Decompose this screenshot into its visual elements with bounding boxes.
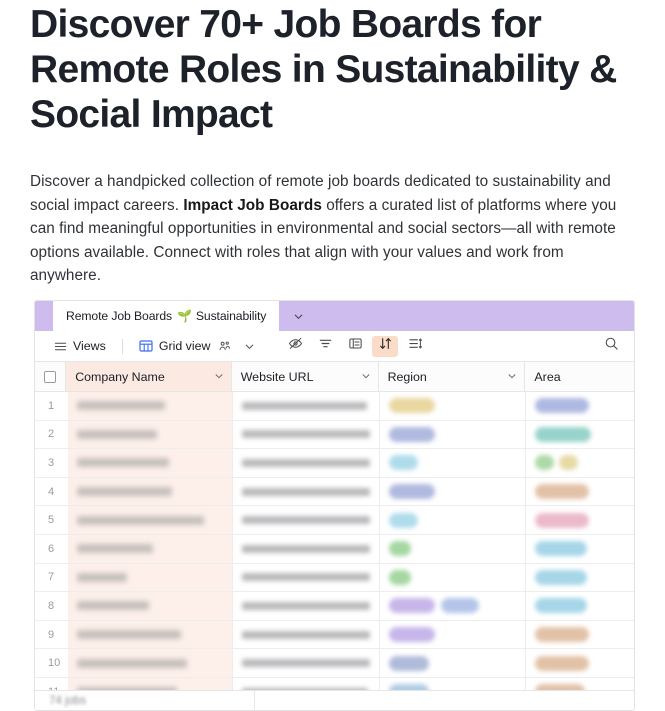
tabstrip-filler: [317, 301, 634, 331]
tab-remote-job-boards[interactable]: Remote Job Boards 🌱 Sustainability: [53, 301, 279, 331]
area-tag: [535, 627, 589, 642]
region-tag: [389, 656, 429, 671]
region-tag: [389, 398, 435, 413]
cell-website-url[interactable]: [233, 535, 379, 563]
region-tag: [389, 455, 418, 470]
region-tag: [389, 570, 411, 585]
cell-website-url[interactable]: [233, 478, 379, 506]
cell-region[interactable]: [380, 592, 526, 620]
row-height-icon: [408, 336, 423, 356]
article-page: Discover 70+ Job Boards for Remote Roles…: [0, 0, 665, 711]
cell-company-name[interactable]: [68, 478, 233, 506]
intro-bold-phrase: Impact Job Boards: [183, 197, 322, 214]
tab-label-after: Sustainability: [196, 309, 266, 323]
column-label: Area: [534, 370, 560, 384]
area-tag: [559, 455, 578, 470]
cell-website-url[interactable]: [233, 564, 379, 592]
people-icon: [218, 340, 231, 353]
cell-website-url[interactable]: [233, 592, 379, 620]
sort-button[interactable]: [372, 336, 398, 357]
row-height-button[interactable]: [402, 336, 428, 357]
redacted-link: [242, 631, 369, 639]
redacted-text: [77, 544, 153, 553]
page-title: Discover 70+ Job Boards for Remote Roles…: [30, 0, 635, 137]
row-number: 7: [35, 564, 68, 592]
row-number: 1: [35, 392, 68, 420]
filter-button[interactable]: [312, 336, 338, 357]
table-row[interactable]: 4: [35, 478, 634, 507]
column-header-region[interactable]: Region: [379, 362, 526, 391]
redacted-text: [77, 430, 157, 439]
redacted-text: [77, 516, 204, 525]
eye-slash-icon: [288, 336, 303, 356]
cell-region[interactable]: [380, 535, 526, 563]
search-icon: [604, 336, 619, 356]
table-row[interactable]: 2: [35, 421, 634, 450]
table-row[interactable]: 7: [35, 564, 634, 593]
table-row[interactable]: 8: [35, 592, 634, 621]
cell-area[interactable]: [526, 564, 634, 592]
embed-toolbar: Views Grid view: [35, 331, 634, 362]
cell-company-name[interactable]: [68, 564, 233, 592]
cell-area[interactable]: [526, 621, 634, 649]
cell-company-name[interactable]: [68, 392, 233, 420]
region-tag: [389, 427, 435, 442]
redacted-text: [77, 487, 172, 496]
cell-area[interactable]: [526, 506, 634, 534]
row-number: 8: [35, 592, 68, 620]
cell-area[interactable]: [526, 592, 634, 620]
region-tag: [389, 541, 411, 556]
cell-region[interactable]: [380, 478, 526, 506]
redacted-text: [77, 573, 127, 582]
row-number: 2: [35, 421, 68, 449]
redacted-text: [77, 458, 169, 467]
views-label: Views: [73, 339, 106, 353]
cell-website-url[interactable]: [233, 649, 379, 677]
cell-region[interactable]: [380, 621, 526, 649]
cell-company-name[interactable]: [68, 592, 233, 620]
redacted-text: [77, 630, 181, 639]
redacted-link: [242, 516, 369, 524]
chevron-down-icon[interactable]: [279, 301, 317, 331]
seedling-icon: 🌱: [177, 309, 192, 323]
footer-divider: [254, 691, 255, 710]
redacted-link: [242, 659, 369, 667]
table-row[interactable]: 9: [35, 621, 634, 650]
table-header-row: Company Name Website URL Region Area: [35, 362, 634, 392]
region-tag: [389, 513, 418, 528]
row-number: 6: [35, 535, 68, 563]
redacted-text: [77, 401, 165, 410]
chevron-down-icon[interactable]: [214, 370, 224, 384]
cell-company-name[interactable]: [68, 449, 233, 477]
hide-fields-button[interactable]: [282, 336, 308, 357]
embed-tabstrip: Remote Job Boards 🌱 Sustainability: [35, 301, 634, 331]
select-all-checkbox[interactable]: [35, 362, 66, 391]
area-tag: [535, 541, 587, 556]
table-row[interactable]: 1: [35, 392, 634, 421]
redacted-link: [242, 430, 369, 438]
cell-website-url[interactable]: [233, 449, 379, 477]
cell-area[interactable]: [526, 392, 634, 420]
cell-website-url[interactable]: [233, 506, 379, 534]
cell-area[interactable]: [526, 449, 634, 477]
column-label: Company Name: [75, 370, 165, 384]
view-chevron-down-icon[interactable]: [244, 341, 255, 352]
column-header-area[interactable]: Area: [525, 362, 634, 391]
cell-website-url[interactable]: [233, 621, 379, 649]
region-tag: [389, 484, 435, 499]
record-count-label: 74 jobs: [49, 695, 86, 707]
area-tag: [535, 656, 589, 671]
redacted-link: [242, 402, 367, 410]
group-button[interactable]: [342, 336, 368, 357]
cell-company-name[interactable]: [68, 621, 233, 649]
tab-label-before: Remote Job Boards: [66, 309, 172, 323]
cell-region[interactable]: [380, 392, 526, 420]
column-label: Website URL: [241, 370, 314, 384]
table-row[interactable]: 6: [35, 535, 634, 564]
cell-region[interactable]: [380, 506, 526, 534]
area-tag: [535, 570, 587, 585]
cell-area[interactable]: [526, 535, 634, 563]
row-number: 9: [35, 621, 68, 649]
tabstrip-accent-bar: [35, 301, 53, 331]
chevron-down-icon[interactable]: [507, 370, 517, 384]
redacted-text: [77, 659, 187, 668]
views-button[interactable]: Views: [49, 336, 111, 356]
table-footer: 74 jobs: [35, 690, 634, 710]
row-number: 4: [35, 478, 68, 506]
region-tag: [389, 598, 435, 613]
redacted-link: [242, 545, 369, 553]
region-tag: [441, 598, 479, 613]
grid-view-label: Grid view: [159, 339, 211, 353]
toolbar-divider: [122, 339, 123, 354]
area-tag: [535, 455, 554, 470]
cell-region[interactable]: [380, 449, 526, 477]
redacted-link: [242, 459, 369, 467]
redacted-link: [242, 488, 369, 496]
row-number: 5: [35, 506, 68, 534]
cell-company-name[interactable]: [68, 506, 233, 534]
cell-area[interactable]: [526, 478, 634, 506]
area-tag: [535, 513, 589, 528]
article-intro: Discover a handpicked collection of remo…: [30, 170, 632, 288]
area-tag: [535, 398, 589, 413]
column-header-company-name[interactable]: Company Name: [66, 362, 232, 391]
cell-company-name[interactable]: [68, 535, 233, 563]
area-tag: [535, 484, 589, 499]
checkbox-icon: [44, 371, 56, 383]
redacted-text: [77, 601, 149, 610]
row-number: 3: [35, 449, 68, 477]
airtable-embed: Remote Job Boards 🌱 Sustainability Views: [34, 300, 635, 711]
cell-area[interactable]: [526, 421, 634, 449]
table-row[interactable]: 5: [35, 506, 634, 535]
cell-region[interactable]: [380, 564, 526, 592]
cell-company-name[interactable]: [68, 649, 233, 677]
grid-icon: [139, 339, 153, 353]
table-body: 1234567891011: [35, 392, 634, 707]
table-row[interactable]: 10: [35, 649, 634, 678]
redacted-link: [242, 602, 369, 610]
group-icon: [348, 336, 363, 356]
cell-website-url[interactable]: [233, 392, 379, 420]
hamburger-icon: [54, 340, 67, 353]
grid-view-button[interactable]: Grid view: [134, 336, 261, 356]
search-button[interactable]: [598, 336, 624, 357]
area-tag: [535, 598, 587, 613]
cell-region[interactable]: [380, 649, 526, 677]
table-row[interactable]: 3: [35, 449, 634, 478]
cell-region[interactable]: [380, 421, 526, 449]
area-tag: [535, 427, 591, 442]
article-header: Discover 70+ Job Boards for Remote Roles…: [0, 0, 665, 288]
cell-area[interactable]: [526, 649, 634, 677]
redacted-link: [242, 573, 369, 581]
sort-icon: [378, 336, 393, 356]
row-number: 10: [35, 649, 68, 677]
region-tag: [389, 627, 435, 642]
cell-website-url[interactable]: [233, 421, 379, 449]
column-label: Region: [388, 370, 427, 384]
chevron-down-icon[interactable]: [361, 370, 371, 384]
column-header-website-url[interactable]: Website URL: [232, 362, 379, 391]
cell-company-name[interactable]: [68, 421, 233, 449]
filter-icon: [318, 336, 333, 356]
